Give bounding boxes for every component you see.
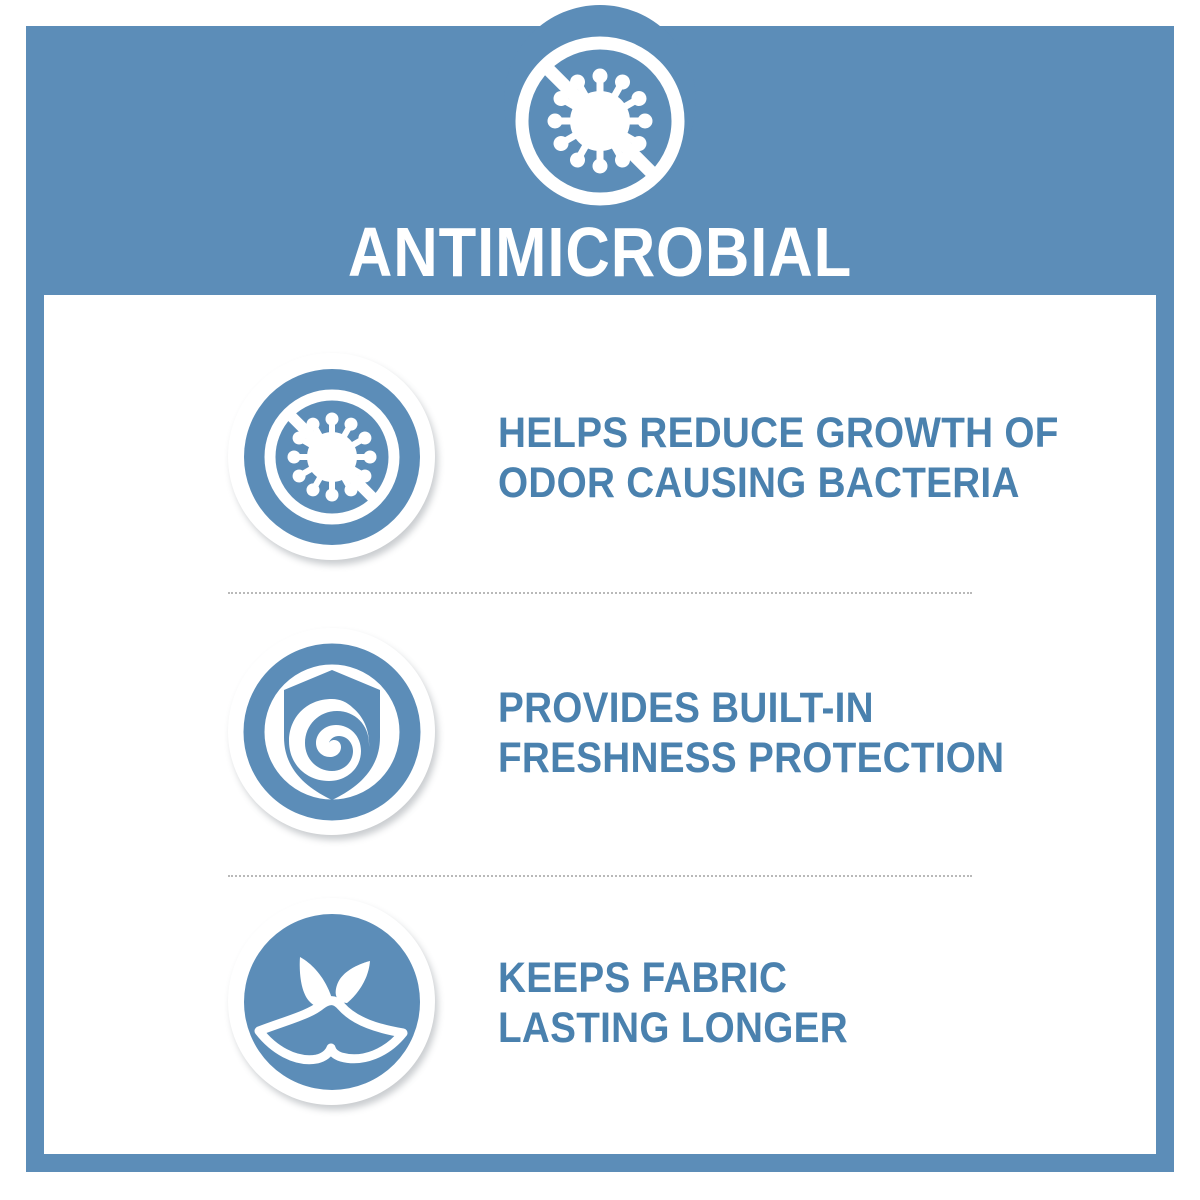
feature-label-2: PROVIDES BUILT-IN FRESHNESS PROTECTION	[498, 683, 1004, 783]
feature-icon-wrap-2	[228, 628, 438, 838]
feature-icon-wrap-1	[228, 353, 438, 563]
feature-label-3: KEEPS FABRIC LASTING LONGER	[498, 953, 848, 1053]
feature-icon-wrap-3	[228, 898, 438, 1108]
no-germ-icon	[510, 31, 690, 211]
divider-2	[228, 875, 972, 878]
feature-row-1: HELPS REDUCE GROWTH OF ODOR CAUSING BACT…	[44, 350, 1156, 566]
feature-label-1: HELPS REDUCE GROWTH OF ODOR CAUSING BACT…	[498, 408, 1059, 508]
no-germ-badge-icon	[228, 353, 435, 560]
feature-row-3: KEEPS FABRIC LASTING LONGER	[44, 895, 1156, 1111]
feature-list: HELPS REDUCE GROWTH OF ODOR CAUSING BACT…	[44, 295, 1156, 1154]
feature-row-2: PROVIDES BUILT-IN FRESHNESS PROTECTION	[44, 625, 1156, 841]
shield-swirl-badge-icon	[228, 628, 435, 835]
header-band: ANTIMICROBIAL	[26, 26, 1174, 295]
divider-1	[228, 592, 972, 595]
leaf-sprout-badge-icon	[228, 898, 435, 1105]
antimicrobial-infographic: ANTIMICROBIAL	[0, 0, 1200, 1200]
page-title: ANTIMICROBIAL	[95, 216, 1105, 288]
